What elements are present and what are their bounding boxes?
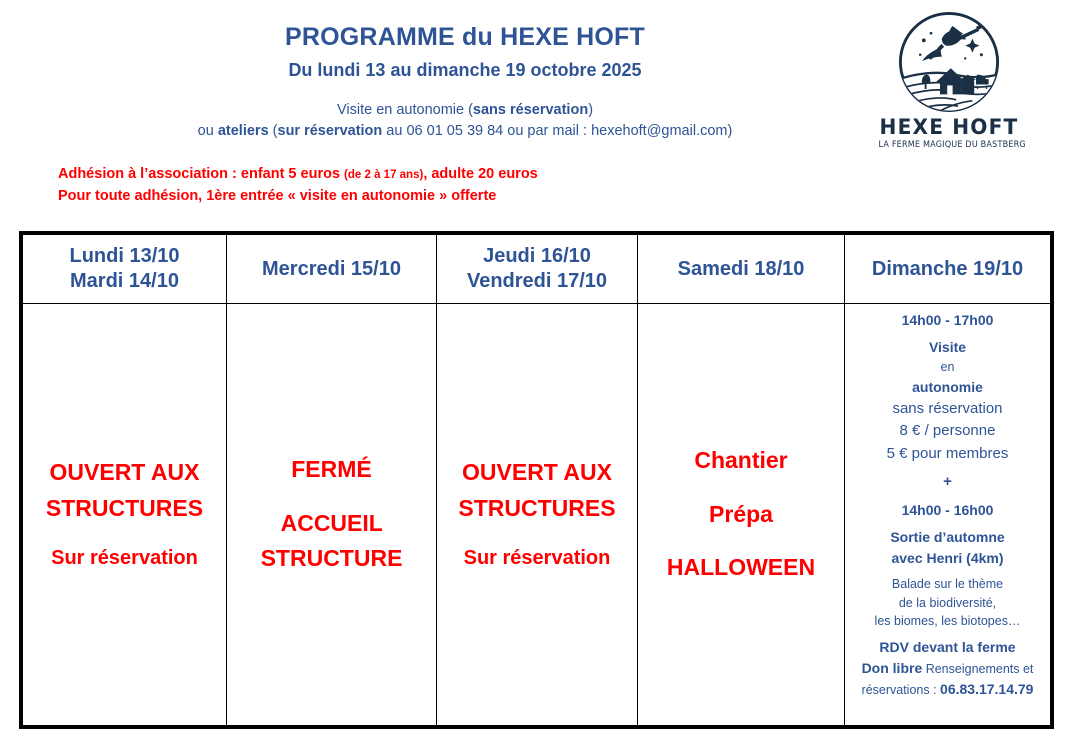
cell-line-1: OUVERT	[462, 459, 558, 485]
adhesion-text-a: Adhésion à l’association : enfant 5 euro…	[58, 166, 344, 182]
sun-theme-line-1: Balade sur le thème	[851, 575, 1044, 594]
page-header: PROGRAMME du HEXE HOFT Du lundi 13 au di…	[0, 0, 1068, 228]
cell-wed: FERMÉ ACCUEIL STRUCTURE	[227, 304, 437, 727]
header-line-2: Vendredi 17/10	[441, 269, 633, 294]
sun-activity-1-line-3: autonomie	[851, 377, 1044, 398]
info-visite-suffix: )	[588, 102, 593, 118]
sun-donation-rest: Renseignements et	[922, 662, 1033, 676]
info-ateliers-prefix: ou	[198, 123, 218, 139]
sun-donation-info: Don libre Renseignements et	[851, 658, 1044, 679]
page-subtitle: Du lundi 13 au dimanche 19 octobre 2025	[0, 61, 930, 81]
witch-farm-circle-icon	[895, 8, 1003, 116]
sun-donation-bold: Don libre	[862, 660, 923, 676]
schedule-table-container: Lundi 13/10 Mardi 14/10 Mercredi 15/10 J…	[20, 232, 1050, 728]
sun-plus-separator: +	[851, 471, 1044, 494]
column-header-mon-tue: Lundi 13/10 Mardi 14/10	[22, 234, 227, 304]
header-line-1: Dimanche 19/10	[849, 257, 1046, 282]
info-visite-bold: sans réservation	[473, 102, 588, 118]
cell-line-2: Prépa	[709, 501, 773, 527]
cell-line-3: STRUCTURES	[46, 495, 203, 521]
weekly-schedule-table: Lundi 13/10 Mardi 14/10 Mercredi 15/10 J…	[20, 232, 1053, 728]
sun-time-slot-1: 14h00 - 17h00	[851, 310, 1044, 331]
sun-activity-1-line-1: Visite	[851, 337, 1044, 358]
cell-line-2: AUX	[151, 459, 200, 485]
adhesion-text-b: , adulte 20 euros	[423, 166, 537, 182]
logo-tagline: LA FERME MAGIQUE DU BASTBERG	[879, 141, 1020, 150]
cell-reservation-note: Sur réservation	[27, 543, 222, 574]
sun-price-adult: 8 € / personne	[851, 420, 1044, 443]
cell-line-1: Chantier	[694, 447, 787, 473]
column-header-wed: Mercredi 15/10	[227, 234, 437, 304]
header-line-1: Jeudi 16/10	[441, 244, 633, 269]
sun-theme-line-3: les biomes, les biotopes…	[851, 612, 1044, 631]
cell-spacer	[231, 488, 432, 506]
column-header-sun: Dimanche 19/10	[845, 234, 1052, 304]
cell-sat: Chantier Prépa HALLOWEEN	[638, 304, 845, 727]
header-line-1: Lundi 13/10	[27, 244, 222, 269]
adhesion-line-2: Pour toute adhésion, 1ère entrée « visit…	[58, 185, 538, 207]
cell-mon-tue: OUVERT AUX STRUCTURES Sur réservation	[22, 304, 227, 727]
cell-sun: 14h00 - 17h00 Visite en autonomie sans r…	[845, 304, 1052, 727]
cell-spacer-2	[642, 532, 840, 550]
sun-detail-no-reservation: sans réservation	[851, 398, 1044, 421]
sun-reservation-label: réservations :	[862, 683, 941, 697]
info-ateliers-contact: au 06 01 05 39 84 ou par mail : hexehoft…	[382, 123, 732, 139]
column-header-sat: Samedi 18/10	[638, 234, 845, 304]
sun-activity-2-line-1: Sortie d’automne	[851, 527, 1044, 548]
sun-meeting-point: RDV devant la ferme	[851, 637, 1044, 658]
sun-theme-line-2: de la biodiversité,	[851, 594, 1044, 613]
visit-info-block: Visite en autonomie (sans réservation) o…	[0, 100, 930, 141]
cell-line-3: STRUCTURES	[458, 495, 615, 521]
cell-line-2: ACCUEIL	[281, 510, 383, 536]
cell-line-1: FERMÉ	[291, 456, 372, 482]
table-content-row: OUVERT AUX STRUCTURES Sur réservation FE…	[22, 304, 1052, 727]
column-header-thu-fri: Jeudi 16/10 Vendredi 17/10	[437, 234, 638, 304]
sun-reservation-phone: 06.83.17.14.79	[940, 681, 1033, 697]
sun-reservation-line: réservations : 06.83.17.14.79	[851, 679, 1044, 700]
header-line-2: Mardi 14/10	[27, 269, 222, 294]
cell-line-3: STRUCTURE	[261, 545, 403, 571]
cell-reservation-note: Sur réservation	[441, 543, 633, 574]
info-ateliers-mid: (	[269, 123, 278, 139]
cell-spacer	[642, 479, 840, 497]
sun-activity-2-line-2: avec Henri (4km)	[851, 548, 1044, 569]
logo-name: HEXE HOFT	[877, 117, 1021, 138]
brand-logo: HEXE HOFT LA FERME MAGIQUE DU BASTBERG	[874, 8, 1024, 150]
header-line-1: Samedi 18/10	[642, 257, 840, 282]
sun-time-slot-2: 14h00 - 16h00	[851, 500, 1044, 521]
adhesion-line-1: Adhésion à l’association : enfant 5 euro…	[58, 163, 538, 185]
sun-price-member: 5 € pour membres	[851, 443, 1044, 466]
info-visite-prefix: Visite en autonomie (	[337, 102, 473, 118]
info-line-visite: Visite en autonomie (sans réservation)	[0, 100, 930, 121]
header-line-1: Mercredi 15/10	[231, 257, 432, 282]
info-ateliers-bold-2: sur réservation	[278, 123, 383, 139]
cell-line-3: HALLOWEEN	[667, 554, 815, 580]
cell-line-1: OUVERT	[50, 459, 146, 485]
info-ateliers-bold-1: ateliers	[218, 123, 269, 139]
title-block: PROGRAMME du HEXE HOFT Du lundi 13 au di…	[0, 24, 930, 80]
page-title: PROGRAMME du HEXE HOFT	[0, 24, 930, 52]
membership-info-block: Adhésion à l’association : enfant 5 euro…	[58, 163, 538, 208]
info-line-ateliers: ou ateliers (sur réservation au 06 01 05…	[0, 121, 930, 142]
table-header-row: Lundi 13/10 Mardi 14/10 Mercredi 15/10 J…	[22, 234, 1052, 304]
cell-line-2: AUX	[563, 459, 612, 485]
sun-activity-1-line-2: en	[851, 358, 1044, 377]
adhesion-age-range: (de 2 à 17 ans)	[344, 169, 423, 181]
cell-thu-fri: OUVERT AUX STRUCTURES Sur réservation	[437, 304, 638, 727]
